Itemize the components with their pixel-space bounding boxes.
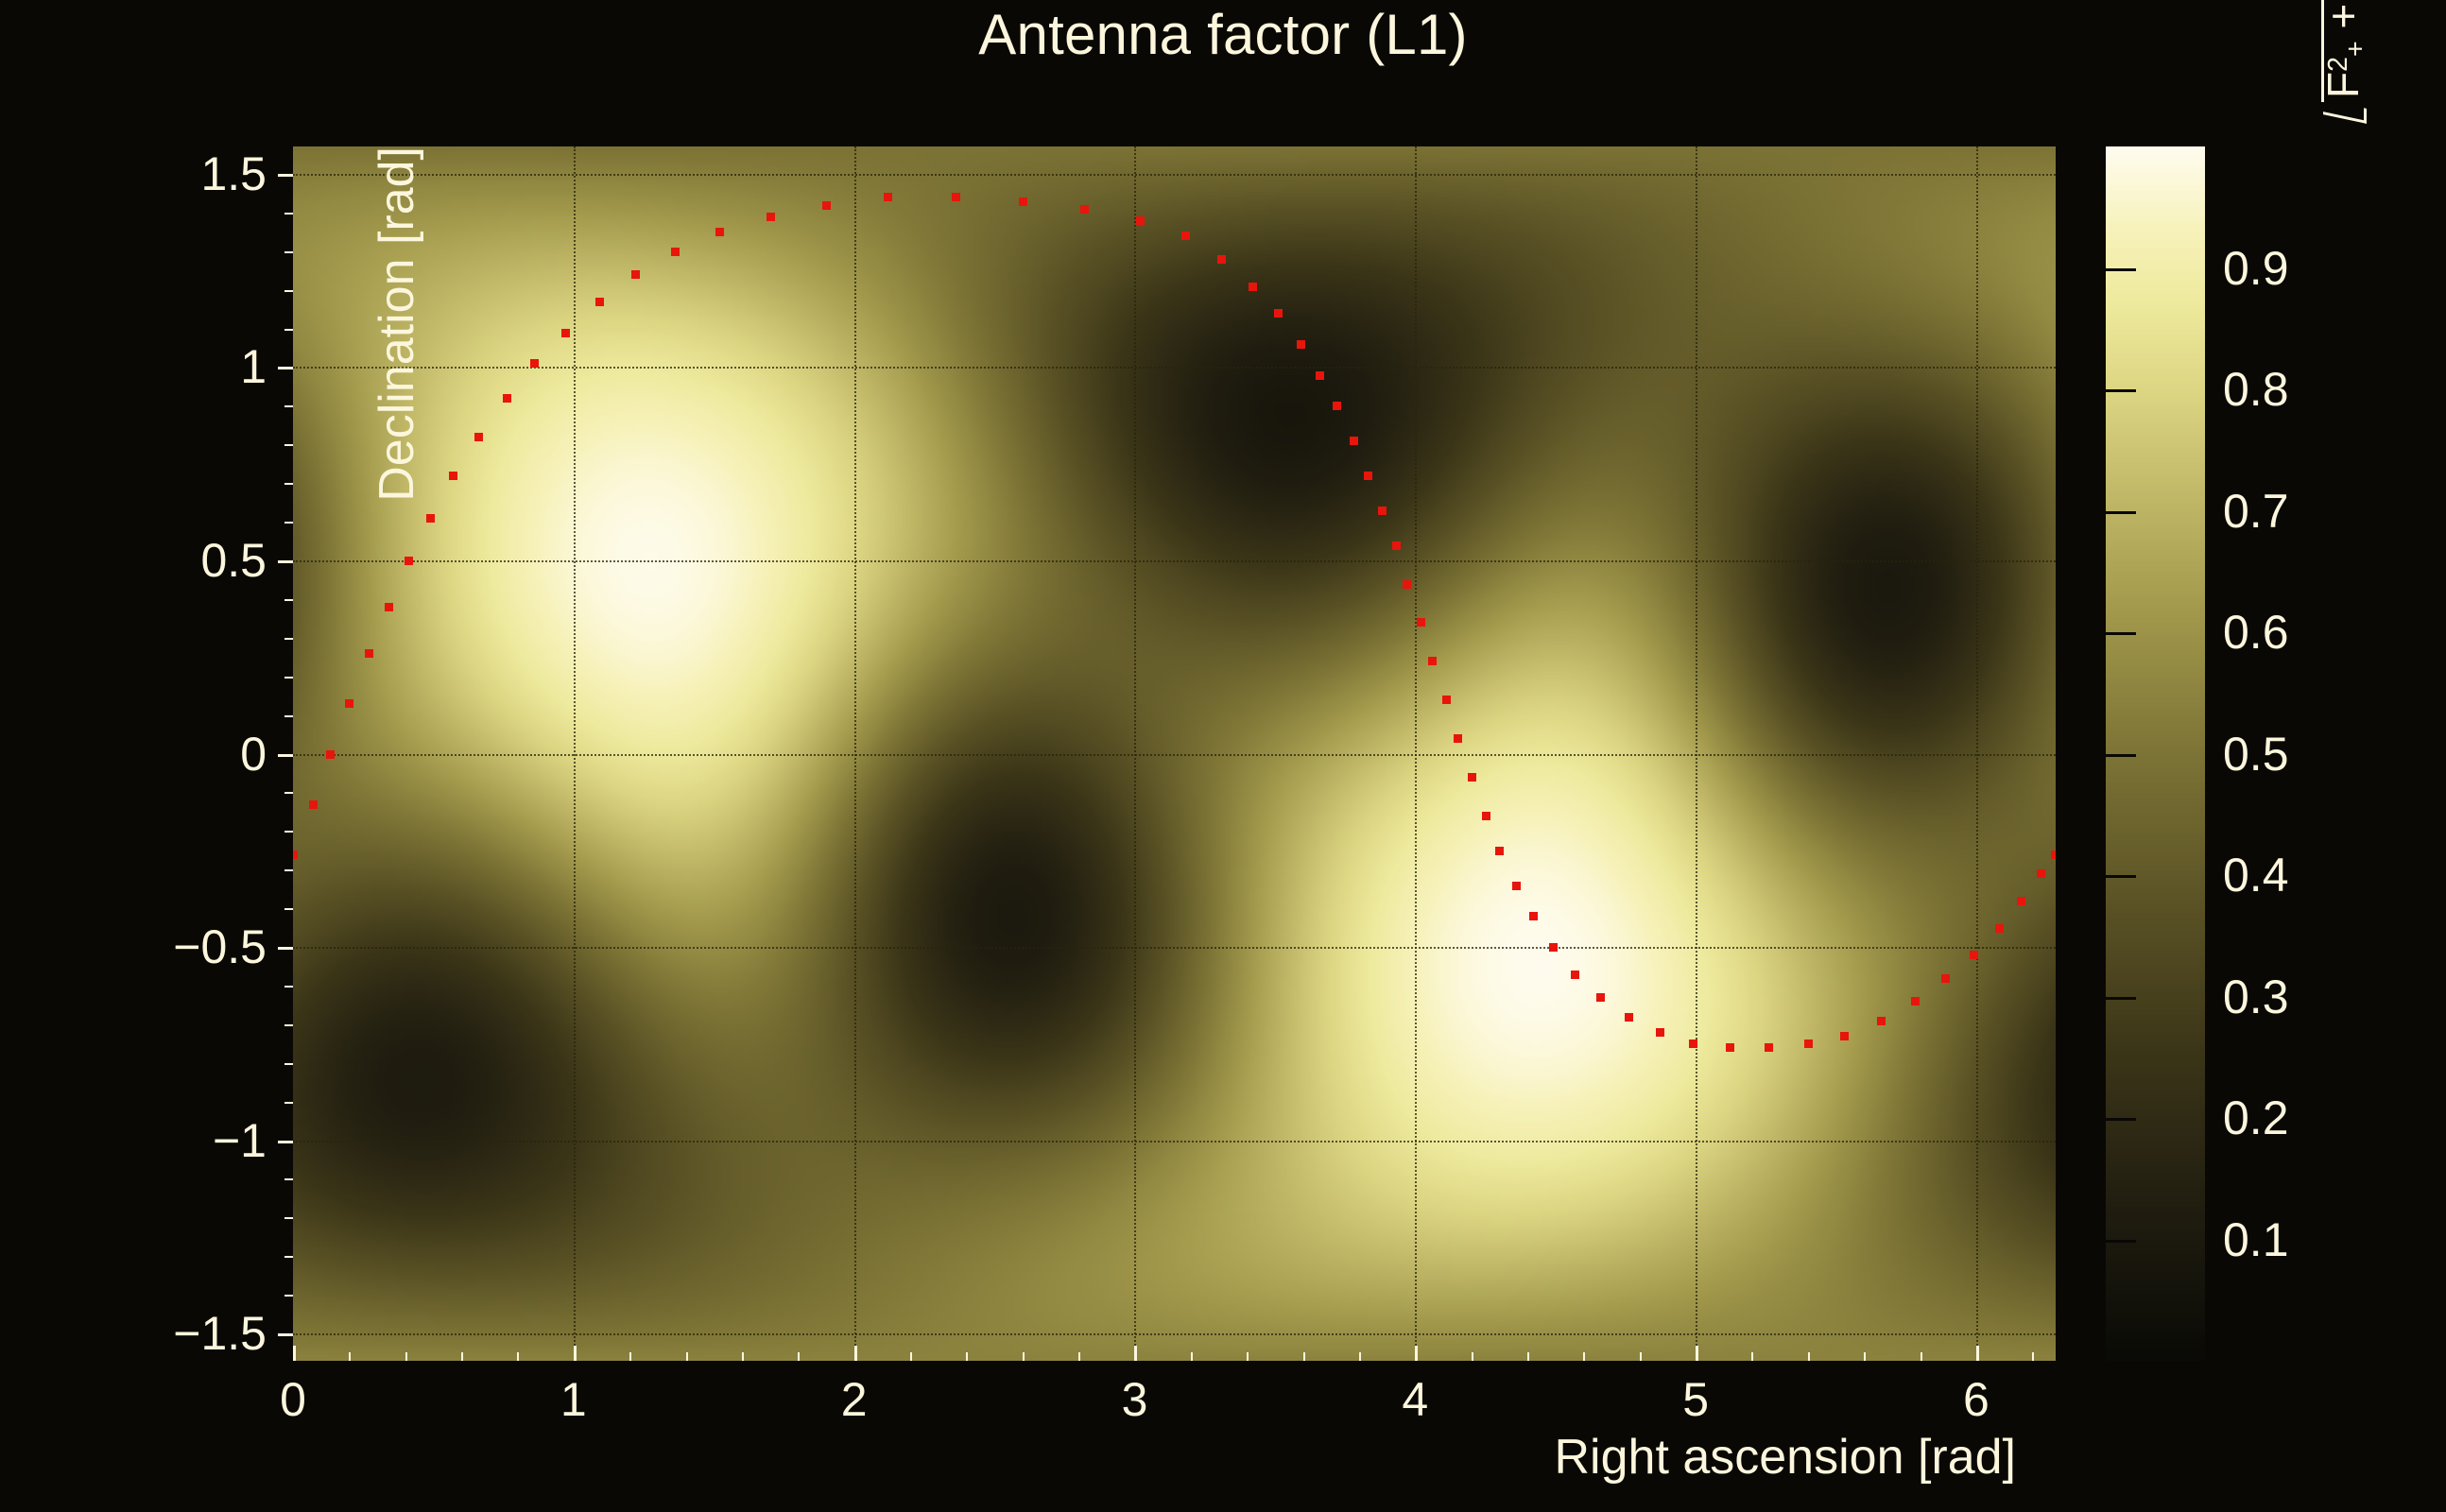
x-axis-tick-label: 0: [280, 1372, 306, 1427]
x-axis-minor-tick: [1191, 1352, 1193, 1361]
x-axis-minor-tick: [1023, 1352, 1025, 1361]
y-axis-minor-tick: [284, 1295, 293, 1297]
y-axis-tick-label: 0: [240, 727, 267, 782]
x-axis-minor-tick: [1751, 1352, 1753, 1361]
x-axis-minor-tick: [1078, 1352, 1080, 1361]
x-axis-minor-tick: [798, 1352, 800, 1361]
x-axis-minor-tick: [629, 1352, 631, 1361]
x-axis-minor-tick: [1583, 1352, 1585, 1361]
y-axis-tick: [278, 560, 293, 563]
y-axis-tick-label: −1: [213, 1113, 267, 1168]
y-axis-tick: [278, 174, 293, 177]
y-axis-tick: [278, 947, 293, 950]
x-axis-tick: [1976, 1346, 1979, 1361]
x-axis-tick: [854, 1346, 857, 1361]
x-axis-minor-tick: [1808, 1352, 1810, 1361]
y-axis-minor-tick: [284, 1217, 293, 1219]
x-axis-minor-tick: [1303, 1352, 1305, 1361]
colorbar-tick: [2106, 754, 2136, 757]
x-axis-minor-tick: [1640, 1352, 1642, 1361]
y-axis-tick: [278, 754, 293, 757]
y-axis-title: Declination [rad]: [369, 146, 425, 732]
y-axis-minor-tick: [284, 831, 293, 833]
y-axis-minor-tick: [284, 677, 293, 679]
y-axis-minor-tick: [284, 715, 293, 717]
colorbar-tick: [2106, 1240, 2136, 1243]
x-axis-minor-tick: [1921, 1352, 1922, 1361]
chart-canvas: Antenna factor (L1) 0123456 −1.5−1−0.500…: [0, 0, 2446, 1512]
colorbar-tick-label: 0.8: [2223, 362, 2289, 417]
x-axis-minor-tick: [349, 1352, 351, 1361]
colorbar-tick-label: 0.5: [2223, 727, 2289, 782]
colorbar-axis-line: [2205, 146, 2207, 1361]
colorbar-tick-label: 0.1: [2223, 1212, 2289, 1267]
colorbar-tick: [2106, 632, 2136, 635]
x-axis-tick: [1134, 1346, 1137, 1361]
colorbar-title: F2+ + F2x: [2317, 0, 2368, 123]
x-axis-minor-tick: [1247, 1352, 1249, 1361]
y-axis-tick: [278, 1141, 293, 1143]
y-axis-minor-tick: [284, 290, 293, 292]
x-axis-tick: [1696, 1346, 1698, 1361]
colorbar-tick: [2106, 997, 2136, 1000]
colorbar-tick: [2106, 268, 2136, 271]
x-axis-minor-tick: [1472, 1352, 1473, 1361]
y-axis-minor-tick: [284, 638, 293, 640]
x-axis-tick: [574, 1346, 577, 1361]
y-axis-minor-tick: [284, 483, 293, 485]
y-axis-minor-tick: [284, 522, 293, 524]
y-axis-tick: [278, 1333, 293, 1336]
y-axis-minor-tick: [284, 986, 293, 988]
x-axis-minor-tick: [1359, 1352, 1361, 1361]
colorbar-tick: [2106, 389, 2136, 392]
colorbar-tick-label: 0.4: [2223, 848, 2289, 902]
x-axis-tick-label: 4: [1402, 1372, 1428, 1427]
x-axis-minor-tick: [461, 1352, 463, 1361]
y-axis-tick-label: −0.5: [173, 919, 267, 974]
x-axis-tick-label: 5: [1682, 1372, 1709, 1427]
x-axis-minor-tick: [405, 1352, 407, 1361]
y-axis-minor-tick: [284, 599, 293, 601]
chart-title: Antenna factor (L1): [0, 2, 2446, 67]
y-axis-minor-tick: [284, 792, 293, 794]
x-axis-minor-tick: [2032, 1352, 2034, 1361]
y-axis-minor-tick: [284, 1256, 293, 1258]
x-axis-minor-tick: [517, 1352, 519, 1361]
plot-frame: [293, 146, 2056, 1361]
colorbar-tick-label: 0.9: [2223, 241, 2289, 296]
y-axis-minor-tick: [284, 405, 293, 407]
x-axis-tick-label: 1: [560, 1372, 587, 1427]
x-axis-minor-tick: [742, 1352, 744, 1361]
colorbar-tick: [2106, 511, 2136, 514]
x-axis-tick-label: 2: [841, 1372, 868, 1427]
y-axis-minor-tick: [284, 869, 293, 871]
colorbar-title-text: F2+ + F2x: [2318, 0, 2368, 98]
y-axis-minor-tick: [284, 1102, 293, 1104]
colorbar-tick-label: 0.6: [2223, 605, 2289, 660]
x-axis-tick: [293, 1346, 296, 1361]
y-axis-minor-tick: [284, 1178, 293, 1180]
y-axis-minor-tick: [284, 329, 293, 331]
y-axis-minor-tick: [284, 251, 293, 253]
x-axis-minor-tick: [686, 1352, 688, 1361]
y-axis-minor-tick: [284, 908, 293, 910]
x-axis-tick-label: 3: [1122, 1372, 1148, 1427]
y-axis-minor-tick: [284, 213, 293, 215]
y-axis-tick-label: 1: [240, 339, 267, 394]
heatmap-surface: [293, 146, 2056, 1361]
x-axis-minor-tick: [966, 1352, 968, 1361]
y-axis-tick: [278, 367, 293, 369]
y-axis-minor-tick: [284, 1024, 293, 1026]
x-axis-title: Right ascension [rad]: [0, 1429, 2056, 1486]
y-axis-minor-tick: [284, 444, 293, 446]
colorbar-tick-label: 0.2: [2223, 1091, 2289, 1145]
colorbar-tick: [2106, 1118, 2136, 1121]
x-axis-tick-label: 6: [1963, 1372, 1990, 1427]
y-axis-tick-label: 1.5: [200, 146, 267, 201]
x-axis-minor-tick: [1864, 1352, 1866, 1361]
colorbar-tick-label: 0.7: [2223, 484, 2289, 539]
y-axis-tick-label: 0.5: [200, 533, 267, 588]
x-axis-minor-tick: [1527, 1352, 1529, 1361]
y-axis-minor-tick: [284, 1063, 293, 1065]
colorbar-tick: [2106, 875, 2136, 878]
y-axis-tick-label: −1.5: [173, 1306, 267, 1361]
x-axis-tick: [1415, 1346, 1418, 1361]
x-axis-minor-tick: [910, 1352, 912, 1361]
colorbar-tick-label: 0.3: [2223, 970, 2289, 1024]
